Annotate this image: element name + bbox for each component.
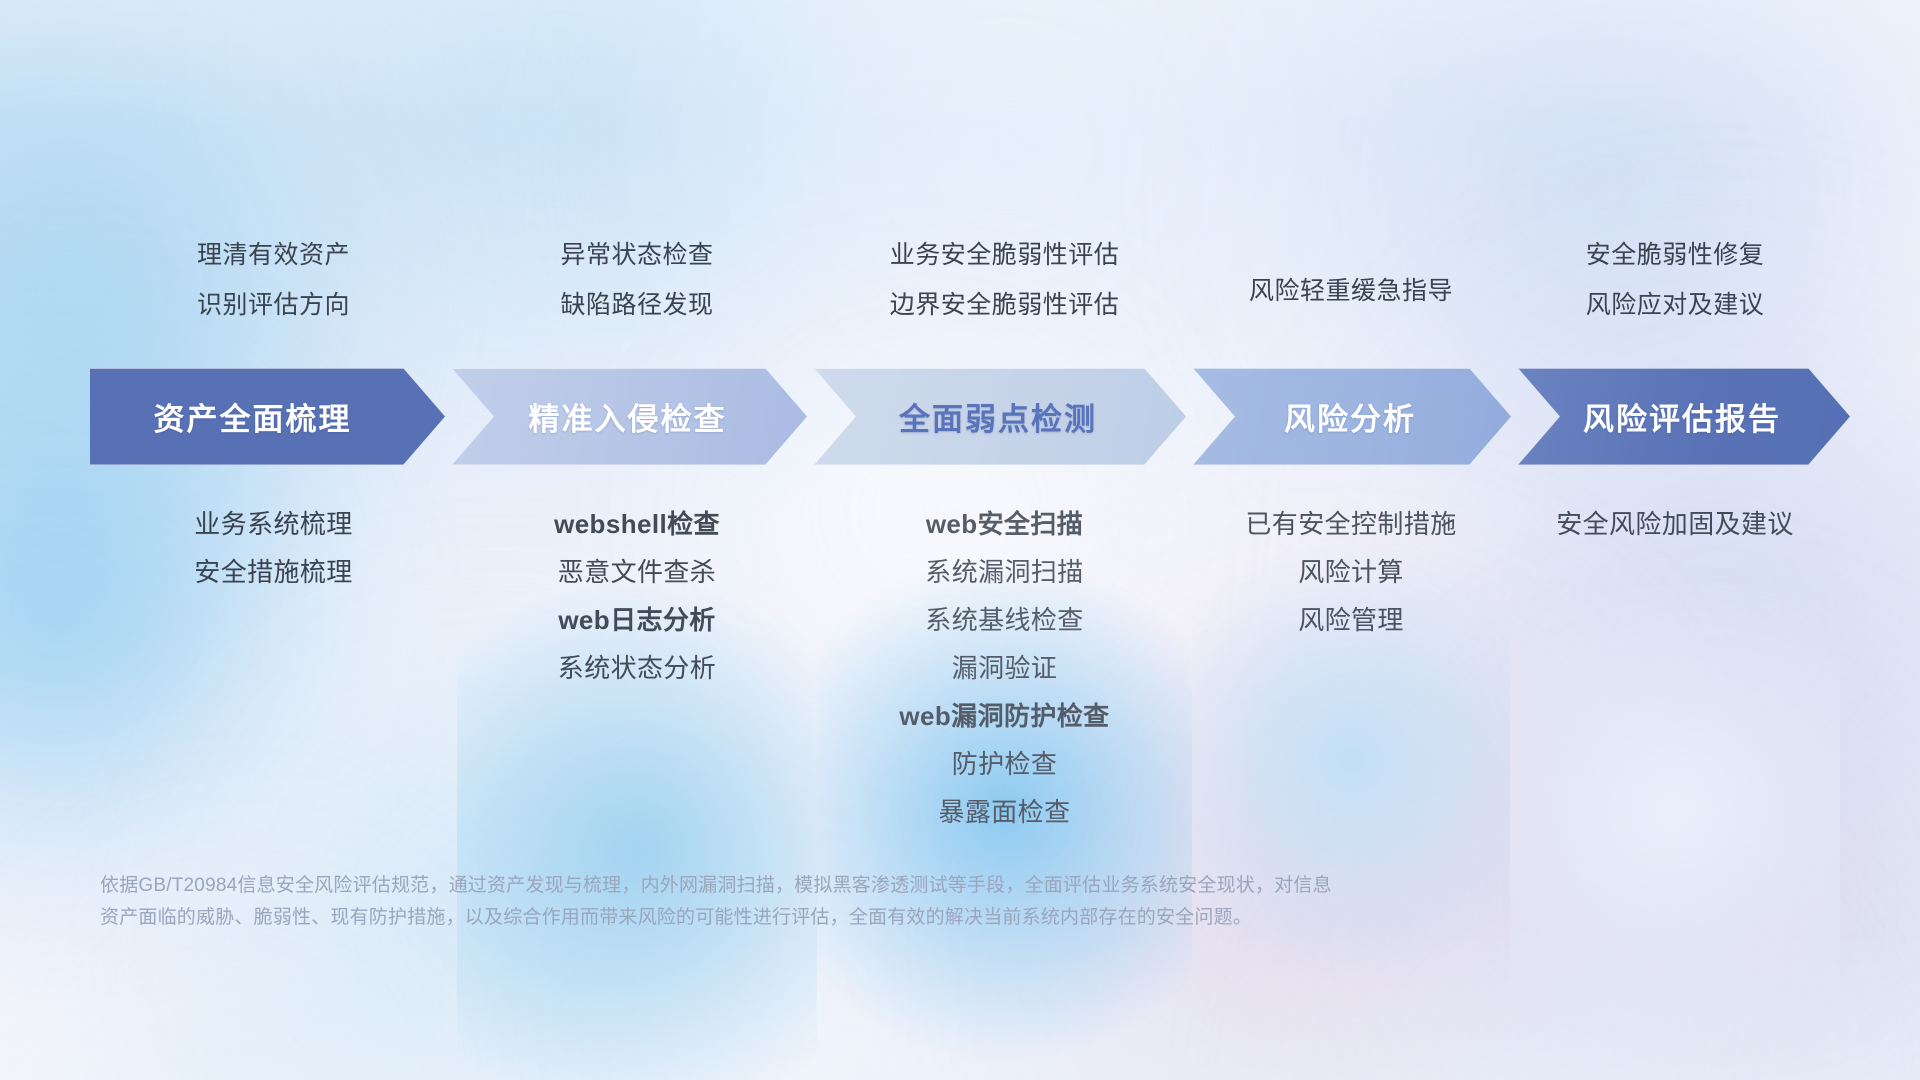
chevron-step-label: 风险评估报告	[1557, 394, 1811, 439]
footer-line-1: 依据GB/T20984信息安全风险评估规范，通过资产发现与梳理，内外网漏洞扫描，…	[100, 870, 1620, 902]
chevron-step-weakness-detection[interactable]: 全面弱点检测	[814, 368, 1186, 465]
chevron-step-intrusion-check[interactable]: 精准入侵检查	[452, 368, 807, 465]
list-item: webshell检查	[457, 500, 817, 548]
top-label: 缺陷路径发现	[457, 280, 817, 330]
chevron-step-asset-inventory[interactable]: 资产全面梳理	[90, 368, 445, 465]
top-labels-intrusion-check: 异常状态检查 缺陷路径发现	[457, 230, 817, 330]
chevron-step-risk-analysis[interactable]: 风险分析	[1193, 368, 1511, 465]
list-item: web安全扫描	[817, 500, 1192, 548]
top-label: 异常状态检查	[457, 230, 817, 280]
footer-description: 依据GB/T20984信息安全风险评估规范，通过资产发现与梳理，内外网漏洞扫描，…	[100, 870, 1620, 934]
top-labels-risk-report: 安全脆弱性修复 风险应对及建议	[1510, 230, 1840, 330]
list-item: 业务系统梳理	[90, 500, 457, 548]
chevron-step-label: 精准入侵检查	[503, 394, 757, 439]
top-labels-risk-analysis: 风险轻重缓急指导	[1192, 230, 1510, 330]
list-item: 防护检查	[817, 740, 1192, 788]
list-item: 系统漏洞扫描	[817, 548, 1192, 596]
footer-line-2: 资产面临的威胁、脆弱性、现有防护措施，以及综合作用而带来风险的可能性进行评估，全…	[100, 902, 1620, 934]
list-item: 已有安全控制措施	[1192, 500, 1510, 548]
bottom-items-row: 业务系统梳理 安全措施梳理 webshell检查 恶意文件查杀 web日志分析 …	[90, 500, 1840, 1080]
list-item: 风险管理	[1192, 596, 1510, 644]
top-labels-weakness-detection: 业务安全脆弱性评估 边界安全脆弱性评估	[817, 230, 1192, 330]
bottom-items-asset-inventory: 业务系统梳理 安全措施梳理	[90, 500, 457, 596]
list-item: 安全风险加固及建议	[1510, 500, 1840, 548]
chevron-step-risk-report[interactable]: 风险评估报告	[1518, 368, 1850, 465]
list-item: 系统状态分析	[457, 644, 817, 692]
list-item: 漏洞验证	[817, 644, 1192, 692]
chevron-step-label: 风险分析	[1258, 394, 1446, 439]
list-item: 暴露面检查	[817, 788, 1192, 836]
list-item: web日志分析	[457, 596, 817, 644]
top-label: 识别评估方向	[90, 280, 457, 330]
list-item: web漏洞防护检查	[817, 692, 1192, 740]
bottom-items-risk-analysis: 已有安全控制措施 风险计算 风险管理	[1192, 500, 1510, 1020]
top-labels-asset-inventory: 理清有效资产 识别评估方向	[90, 230, 457, 330]
process-chevron-band: 资产全面梳理 精准入侵检查 全面弱点检测 风险分析 风险评估报告	[90, 368, 1850, 465]
top-labels-row: 理清有效资产 识别评估方向 异常状态检查 缺陷路径发现 业务安全脆弱性评估 边界…	[90, 230, 1840, 330]
list-item: 风险计算	[1192, 548, 1510, 596]
top-label: 边界安全脆弱性评估	[817, 280, 1192, 330]
chevron-step-label: 全面弱点检测	[873, 394, 1127, 439]
bottom-items-intrusion-check: webshell检查 恶意文件查杀 web日志分析 系统状态分析	[457, 500, 817, 1080]
list-item: 系统基线检查	[817, 596, 1192, 644]
bottom-items-risk-report: 安全风险加固及建议	[1510, 500, 1840, 1080]
top-label: 理清有效资产	[90, 230, 457, 280]
top-label: 风险轻重缓急指导	[1192, 266, 1510, 316]
list-item: 恶意文件查杀	[457, 548, 817, 596]
process-diagram: 理清有效资产 识别评估方向 异常状态检查 缺陷路径发现 业务安全脆弱性评估 边界…	[0, 0, 1920, 1080]
top-label: 安全脆弱性修复	[1510, 230, 1840, 280]
bottom-items-weakness-detection: web安全扫描 系统漏洞扫描 系统基线检查 漏洞验证 web漏洞防护检查 防护检…	[817, 500, 1192, 1080]
chevron-step-label: 资产全面梳理	[154, 394, 382, 439]
top-label: 风险应对及建议	[1510, 280, 1840, 330]
top-label: 业务安全脆弱性评估	[817, 230, 1192, 280]
list-item: 安全措施梳理	[90, 548, 457, 596]
